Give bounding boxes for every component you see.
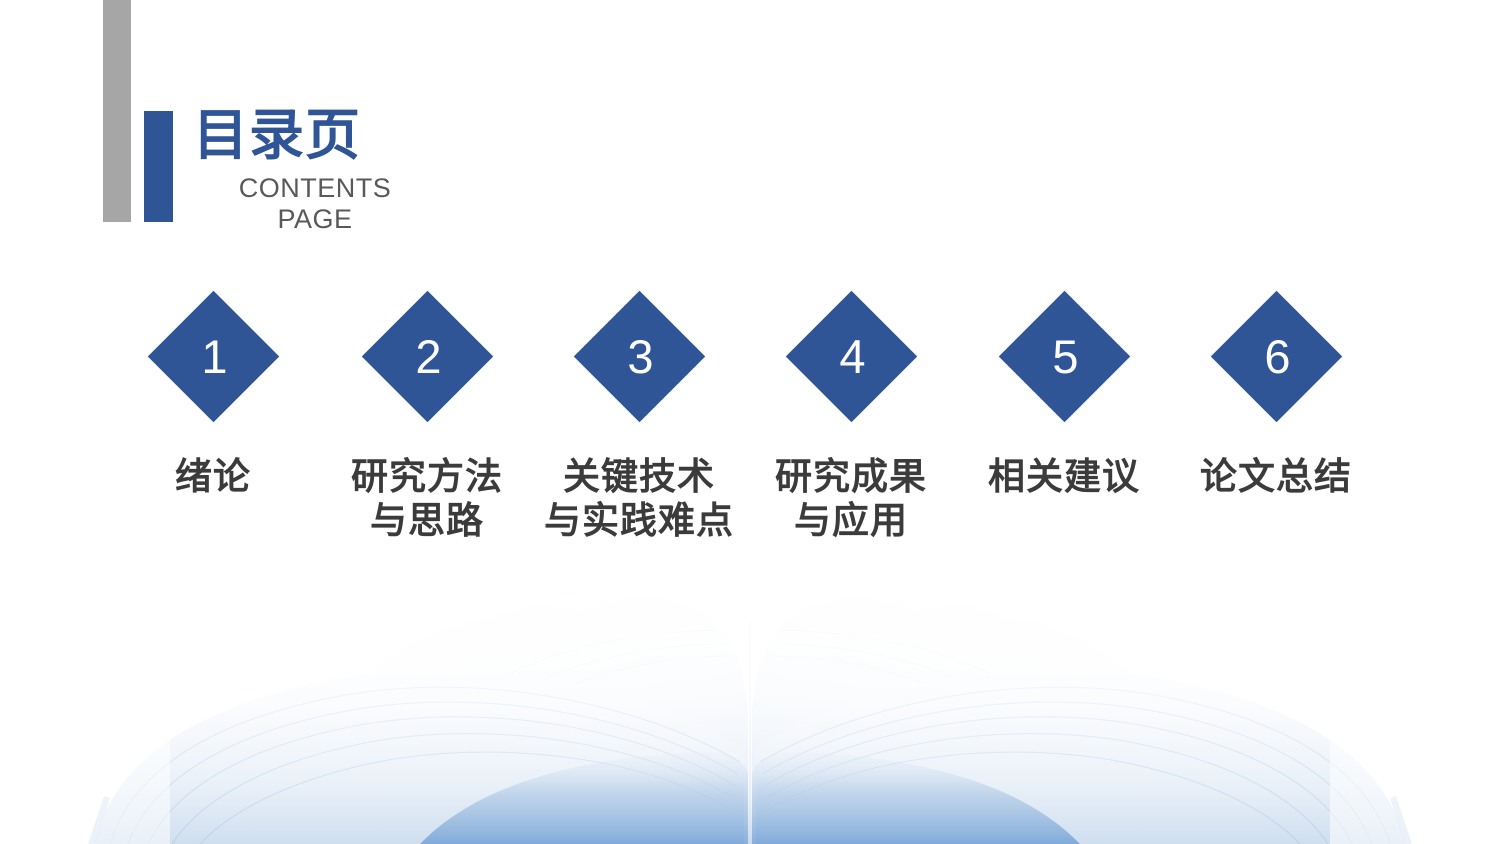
contents-item-3[interactable]: 3 关键技术 与实践难点 xyxy=(539,290,739,542)
diamond-2[interactable]: 2 xyxy=(361,290,493,422)
step-number-4: 4 xyxy=(785,290,917,422)
contents-item-4[interactable]: 4 研究成果 与应用 xyxy=(751,290,951,542)
diamond-5[interactable]: 5 xyxy=(998,290,1130,422)
diamond-4[interactable]: 4 xyxy=(785,290,917,422)
step-label-3: 关键技术 与实践难点 xyxy=(539,455,739,542)
book-illustration-icon xyxy=(0,560,1500,844)
step-label-1: 绪论 xyxy=(113,455,313,499)
step-number-3: 3 xyxy=(573,290,705,422)
step-number-6: 6 xyxy=(1210,290,1342,422)
diamond-1[interactable]: 1 xyxy=(147,290,279,422)
step-number-5: 5 xyxy=(998,290,1130,422)
step-number-1: 1 xyxy=(147,290,279,422)
contents-item-1[interactable]: 1 绪论 xyxy=(113,290,313,499)
step-label-2: 研究方法 与思路 xyxy=(327,455,527,542)
contents-item-5[interactable]: 5 相关建议 xyxy=(964,290,1164,499)
contents-item-2[interactable]: 2 研究方法 与思路 xyxy=(327,290,527,542)
step-label-5: 相关建议 xyxy=(964,455,1164,499)
book-photo xyxy=(0,560,1500,844)
contents-steps: 1 绪论 2 研究方法 与思路 3 关键技术 与实践难点 4 研究成果 与应用 xyxy=(0,0,1500,560)
contents-slide: 目录页 CONTENTS PAGE 1 绪论 2 研究方法 与思路 3 xyxy=(0,0,1500,844)
diamond-3[interactable]: 3 xyxy=(573,290,705,422)
contents-item-6[interactable]: 6 论文总结 xyxy=(1176,290,1376,499)
step-label-6: 论文总结 xyxy=(1176,455,1376,499)
diamond-6[interactable]: 6 xyxy=(1210,290,1342,422)
step-label-4: 研究成果 与应用 xyxy=(751,455,951,542)
step-number-2: 2 xyxy=(361,290,493,422)
